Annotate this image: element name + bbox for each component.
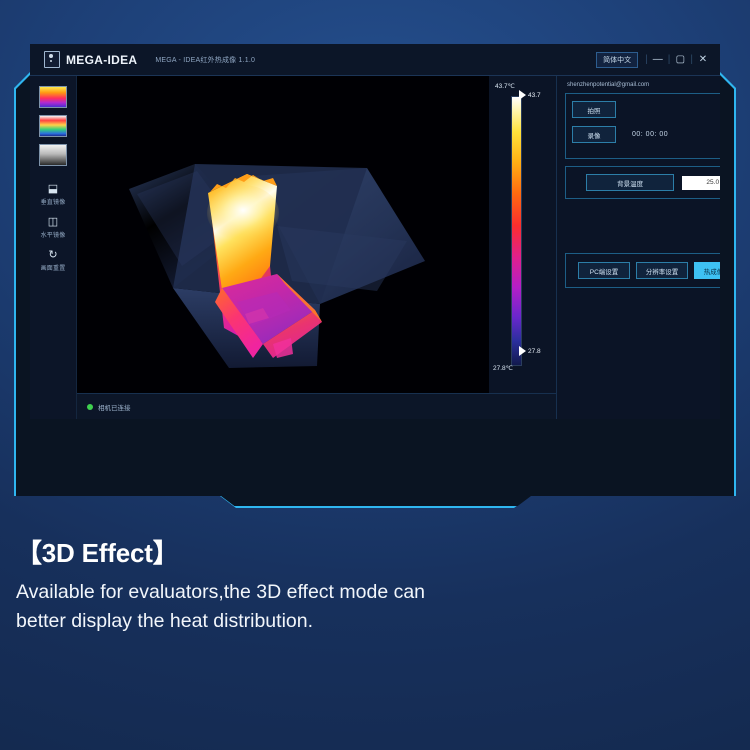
connection-status-dot-icon [87, 404, 93, 410]
close-button[interactable]: ✕ [694, 52, 712, 68]
marker-triangle-icon [519, 346, 526, 356]
thermal-analysis-button[interactable]: 热成像分析 [694, 262, 720, 279]
tool-label: 画面重置 [41, 263, 66, 272]
scale-max-label: 43.7℃ [495, 82, 515, 90]
settings-box: 背景温度 25.0 ℃ [565, 166, 720, 199]
palette-gray-swatch[interactable] [39, 144, 67, 166]
horizontal-mirror-icon: ◫ [48, 216, 58, 228]
pc-settings-button[interactable]: PC端设置 [578, 262, 630, 279]
window-controls: 简体中文 | — | ▢ | ✕ [596, 52, 712, 68]
tool-rail: ⬓ 垂直镜像 ◫ 水平镜像 ↻ 画面重置 [30, 76, 77, 419]
caption-title: 【3D Effect】 [16, 533, 446, 570]
capture-box: 拍照 录像 00: 00: 00 [565, 93, 720, 159]
tool-vertical-mirror[interactable]: ⬓ 垂直镜像 [41, 183, 66, 206]
mega-idea-logo-icon [44, 51, 60, 68]
connection-status-text: 相机已连接 [98, 402, 131, 412]
tool-label: 垂直镜像 [41, 197, 66, 206]
video-row: 录像 00: 00: 00 [572, 126, 720, 143]
tool-horizontal-mirror[interactable]: ◫ 水平镜像 [41, 216, 66, 239]
record-timer: 00: 00: 00 [632, 131, 668, 138]
vertical-mirror-icon: ⬓ [48, 183, 58, 195]
maximize-button[interactable]: ▢ [671, 52, 689, 68]
marker-triangle-icon [519, 90, 526, 100]
tool-label: 水平镜像 [41, 230, 66, 239]
palette-iron-swatch[interactable] [39, 86, 67, 108]
brand-name: MEGA-IDEA [66, 53, 137, 67]
background-temp-input[interactable]: 25.0 [682, 176, 720, 190]
background-temp-label[interactable]: 背景温度 [586, 174, 674, 191]
photo-button[interactable]: 拍照 [572, 101, 616, 118]
resolution-settings-button[interactable]: 分辨率设置 [636, 262, 688, 279]
caption-block: 【3D Effect】 Available for evaluators,the… [16, 533, 446, 636]
max-temp-value: 43.7 [528, 92, 541, 99]
account-email: shenzhenpotential@gmail.com [565, 80, 720, 93]
min-temp-marker: 27.8 [519, 346, 541, 356]
viewport-wrap: 43.7℃ 43.7 27.8 27.8℃ 相机已连接 [77, 76, 720, 419]
background-temp-row: 背景温度 25.0 ℃ [572, 174, 720, 191]
photo-row: 拍照 [572, 101, 720, 118]
page-root: MEGA-IDEA MEGA - IDEA红外热成像 1.1.0 简体中文 | … [0, 0, 750, 750]
temperature-color-bar[interactable] [511, 96, 522, 366]
language-button[interactable]: 简体中文 [596, 52, 638, 68]
video-button[interactable]: 录像 [572, 126, 616, 143]
reset-icon: ↻ [48, 249, 57, 261]
brand: MEGA-IDEA [44, 51, 137, 68]
max-temp-marker: 43.7 [519, 90, 541, 100]
caption-body: Available for evaluators,the 3D effect m… [16, 578, 446, 636]
action-button-box: PC端设置 分辨率设置 热成像分析 [565, 253, 720, 288]
app-subtitle: MEGA - IDEA红外热成像 1.1.0 [155, 55, 255, 65]
palette-rainbow-swatch[interactable] [39, 115, 67, 137]
min-temp-value: 27.8 [528, 348, 541, 355]
titlebar: MEGA-IDEA MEGA - IDEA红外热成像 1.1.0 简体中文 | … [30, 44, 720, 76]
control-panel: shenzhenpotential@gmail.com 拍照 录像 00: 00… [556, 76, 720, 419]
tool-reset-view[interactable]: ↻ 画面重置 [41, 249, 66, 272]
thermal-surface-plot [77, 76, 489, 394]
minimize-button[interactable]: — [649, 52, 667, 68]
temperature-scale-panel: 43.7℃ 43.7 27.8 27.8℃ [489, 76, 556, 394]
thermal-3d-viewport[interactable] [77, 76, 489, 394]
app-body: ⬓ 垂直镜像 ◫ 水平镜像 ↻ 画面重置 [30, 76, 720, 419]
scale-min-label: 27.8℃ [493, 364, 513, 372]
app-window: MEGA-IDEA MEGA - IDEA红外热成像 1.1.0 简体中文 | … [30, 44, 720, 419]
